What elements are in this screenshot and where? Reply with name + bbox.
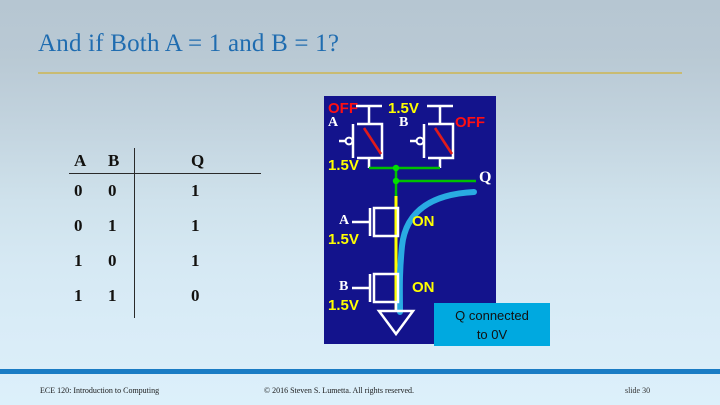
pmos-a-state-label: OFF xyxy=(328,101,358,116)
junction-dot-output xyxy=(393,178,399,184)
table-row: 1 xyxy=(74,251,83,271)
table-row: 1 xyxy=(108,286,117,306)
table-row: 0 xyxy=(191,286,200,306)
pmos-b-off-slash xyxy=(435,128,452,154)
footer-copyright: © 2016 Steven S. Lumetta. All rights res… xyxy=(264,386,414,395)
table-header-q: Q xyxy=(191,151,204,171)
table-row: 0 xyxy=(108,181,117,201)
table-header-b: B xyxy=(108,151,119,171)
table-row: 0 xyxy=(74,216,83,236)
title-divider xyxy=(38,72,682,74)
table-row: 1 xyxy=(74,286,83,306)
callout-box: Q connected to 0V xyxy=(434,303,550,346)
truth-table: A B Q 0 0 1 0 1 1 1 0 1 1 1 0 xyxy=(66,148,266,318)
table-row: 1 xyxy=(108,216,117,236)
table-header-a: A xyxy=(74,151,86,171)
nmos-b-gate-voltage-label: 1.5V xyxy=(328,298,359,313)
nmos-b-gate-label: B xyxy=(339,280,348,294)
junction-dot-top xyxy=(393,165,399,171)
callout-line-2: to 0V xyxy=(434,325,550,344)
pmos-a-inversion-bubble xyxy=(346,138,353,145)
pmos-b-inversion-bubble xyxy=(417,138,424,145)
table-row: 0 xyxy=(74,181,83,201)
nmos-b-state-label: ON xyxy=(412,280,435,295)
ground-symbol xyxy=(379,302,413,334)
slide: And if Both A = 1 and B = 1? A B Q 0 0 1… xyxy=(0,0,720,405)
footer-divider xyxy=(0,369,720,374)
pmos-a-off-slash xyxy=(364,128,381,154)
pmos-a-gate-label: A xyxy=(328,116,338,130)
table-row: 1 xyxy=(191,181,200,201)
nmos-transistor-b xyxy=(352,274,398,302)
table-row: 1 xyxy=(191,251,200,271)
nmos-a-gate-voltage-label: 1.5V xyxy=(328,232,359,247)
footer-slide-number: slide 30 xyxy=(625,386,650,395)
supply-voltage-label: 1.5V xyxy=(388,101,419,116)
pmos-b-gate-label: B xyxy=(399,116,408,130)
callout-line-1: Q connected xyxy=(434,306,550,325)
table-header-rule xyxy=(69,173,261,174)
table-row: 0 xyxy=(108,251,117,271)
page-title: And if Both A = 1 and B = 1? xyxy=(38,30,339,58)
footer-course-name: ECE 120: Introduction to Computing xyxy=(40,386,159,395)
nmos-a-state-label: ON xyxy=(412,214,435,229)
pmos-a-gate-voltage-label: 1.5V xyxy=(328,158,359,173)
table-row: 1 xyxy=(191,216,200,236)
nmos-transistor-a xyxy=(352,208,398,236)
output-node-label: Q xyxy=(479,170,491,186)
pmos-b-state-label: OFF xyxy=(455,115,485,130)
nmos-a-gate-label: A xyxy=(339,214,349,228)
q-to-ground-highlight xyxy=(400,192,474,312)
